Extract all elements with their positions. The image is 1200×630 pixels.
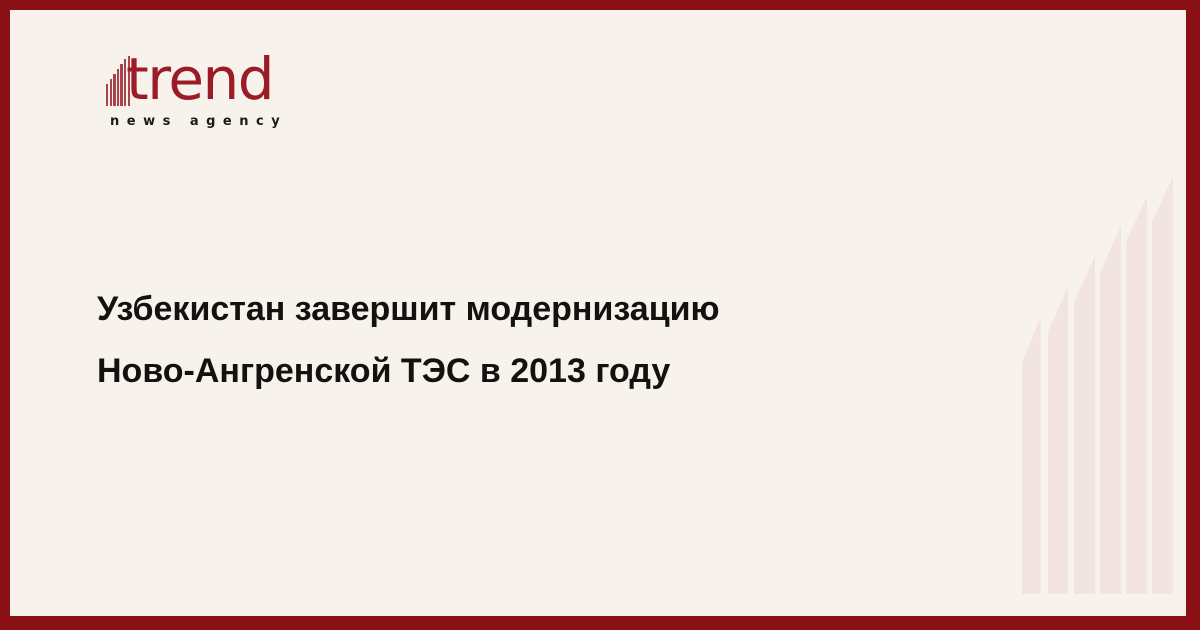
ascending-bars-decoration: [1010, 176, 1186, 616]
logo-mark-bar-1: [106, 84, 108, 106]
deco-bar-2: [1048, 286, 1068, 594]
share-card: trend news agency Узбекистан завершит мо…: [0, 0, 1200, 630]
logo-mark-bar-4: [117, 69, 119, 106]
headline-line-1: Узбекистан завершит модернизацию: [97, 278, 977, 340]
deco-bar-4: [1100, 226, 1121, 594]
trend-news-agency-logo[interactable]: trend news agency: [98, 48, 298, 140]
headline-line-2: Ново-Ангренской ТЭС в 2013 году: [97, 340, 977, 402]
deco-bar-5: [1126, 196, 1147, 594]
logo-wordmark: trend: [126, 48, 273, 110]
deco-bar-3: [1074, 256, 1095, 594]
headline: Узбекистан завершит модернизацию Ново-Ан…: [97, 278, 977, 402]
logo-mark-bar-5: [120, 64, 122, 106]
deco-bar-1: [1022, 316, 1041, 594]
deco-bar-6: [1152, 176, 1173, 594]
card-canvas: trend news agency Узбекистан завершит мо…: [10, 10, 1186, 616]
logo-tagline: news agency: [110, 114, 287, 129]
logo-mark-bar-2: [110, 79, 112, 106]
logo-mark-bar-3: [113, 74, 115, 106]
